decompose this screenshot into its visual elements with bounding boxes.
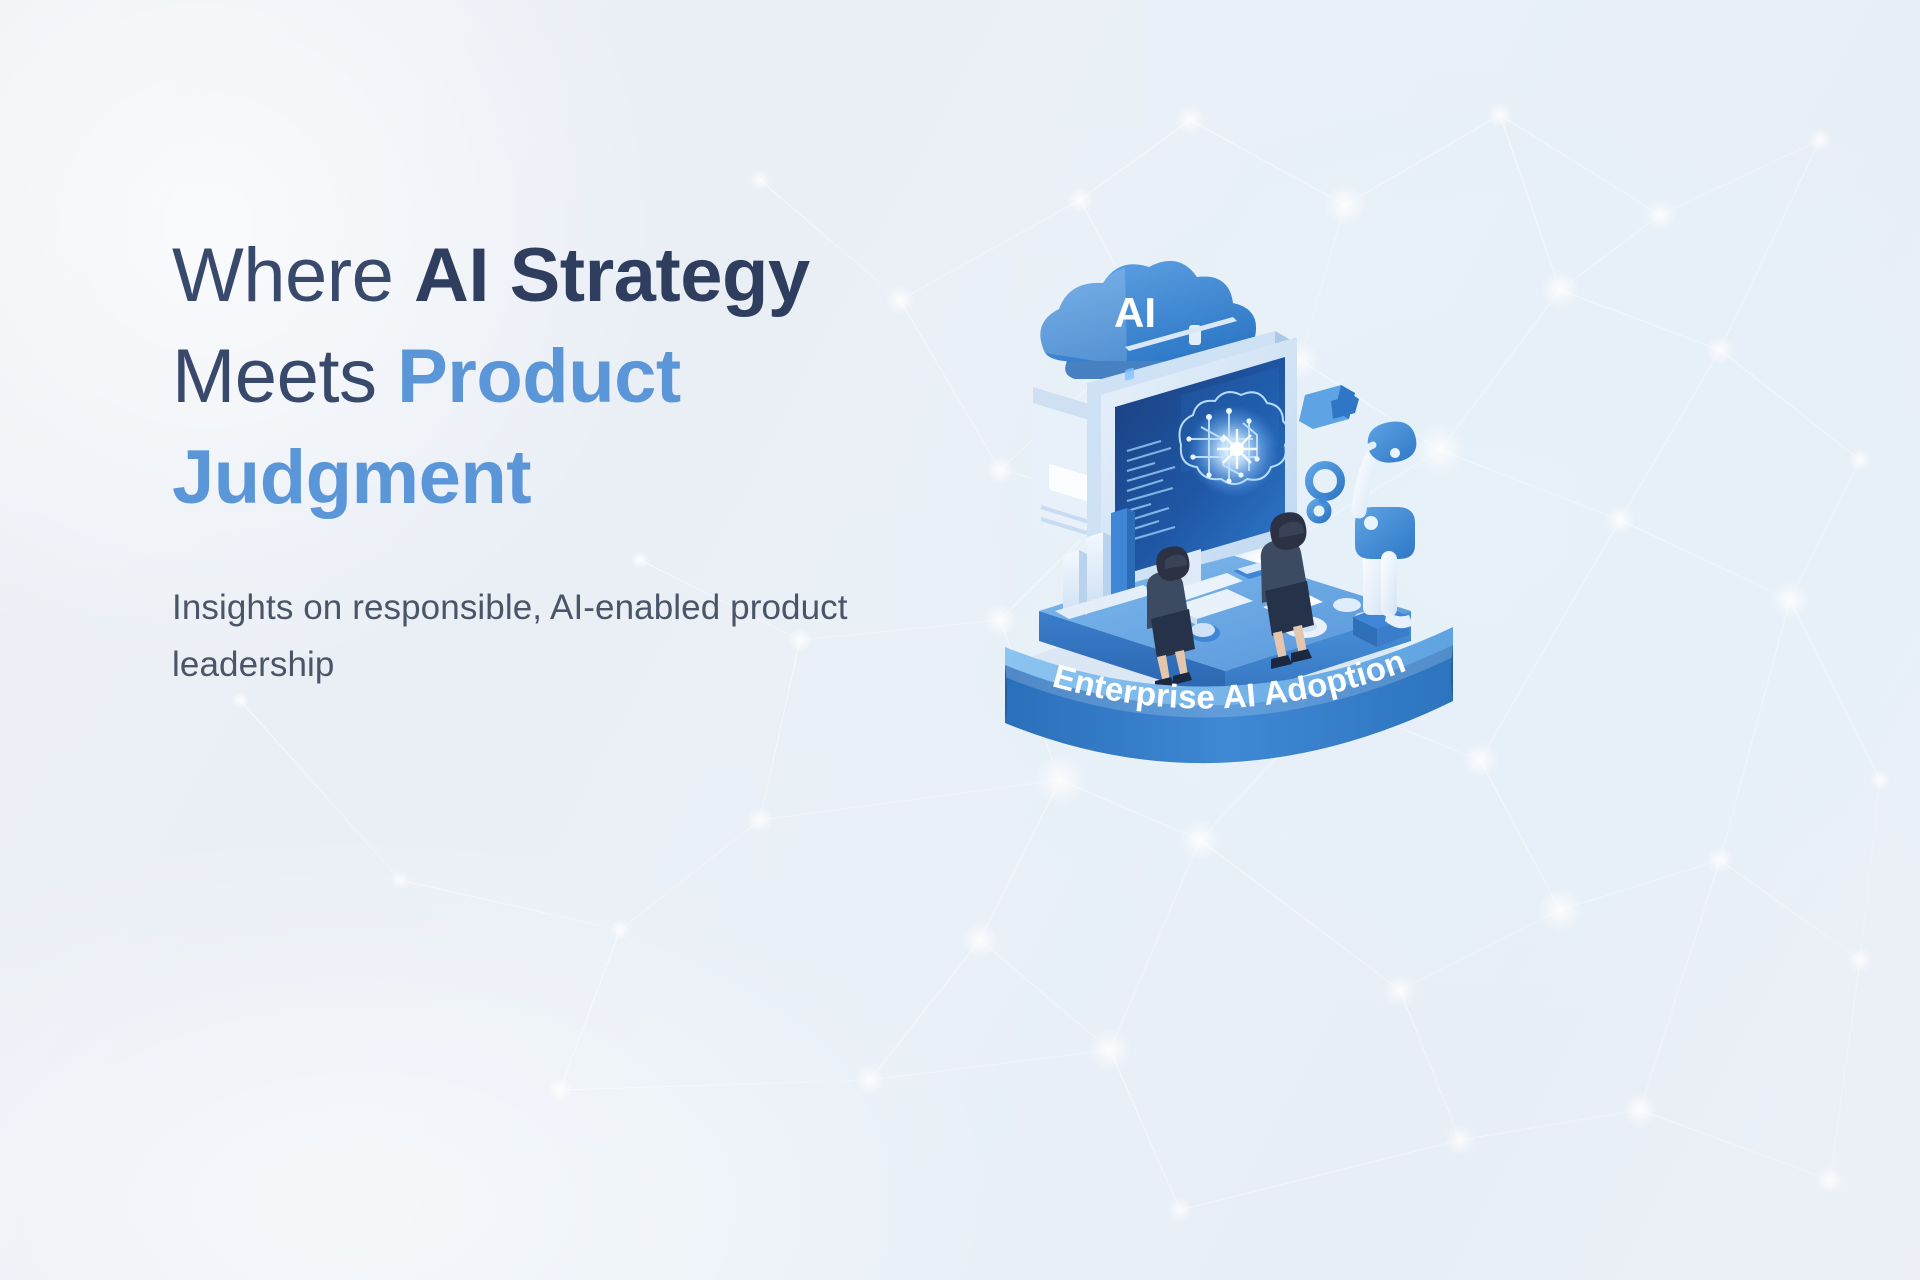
headline-line-1: Where AI Strategy <box>172 225 962 326</box>
headline-line-3: Judgment <box>172 427 962 528</box>
headline-line-2: Meets Product <box>172 326 962 427</box>
headline-word-judgment: Judgment <box>172 435 531 520</box>
illustration-svg: AI <box>975 255 1495 775</box>
hero-banner: Where AI Strategy Meets Product Judgment… <box>0 0 1920 1280</box>
page-title: Where AI Strategy Meets Product Judgment <box>172 225 962 528</box>
background-glow-bottom <box>0 820 1020 1280</box>
headline-word-ai-strategy: AI Strategy <box>414 233 810 318</box>
hero-subtitle: Insights on responsible, AI-enabled prod… <box>172 580 932 693</box>
headline-word-where: Where <box>172 233 414 318</box>
cloud-label-ai: AI <box>1114 289 1156 336</box>
headline-word-meets: Meets <box>172 334 397 419</box>
headline-word-product: Product <box>397 334 681 419</box>
enterprise-ai-illustration: AI <box>975 255 1495 775</box>
hero-text-column: Where AI Strategy Meets Product Judgment… <box>172 225 962 694</box>
